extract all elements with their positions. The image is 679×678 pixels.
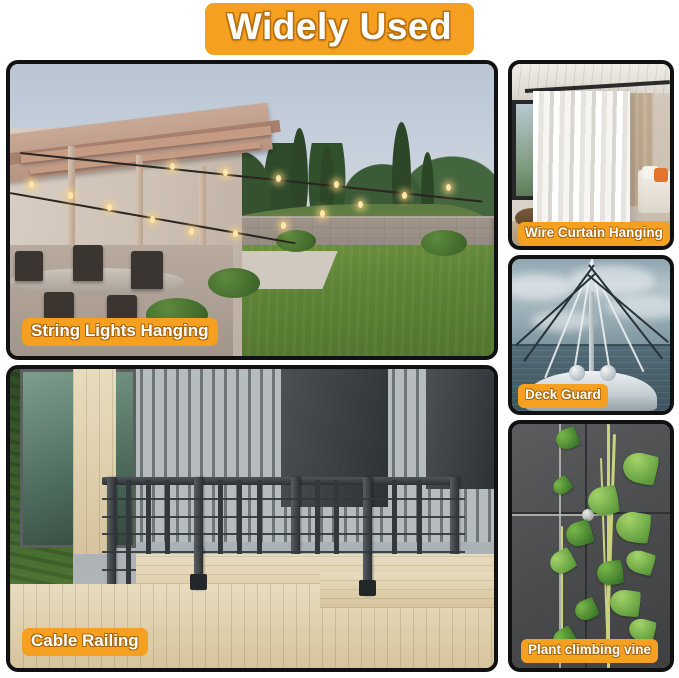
- scene-cable-railing: [10, 369, 494, 668]
- scene-wire-curtain: [512, 64, 670, 246]
- panel-cable-railing[interactable]: Cable Railing: [6, 365, 498, 672]
- railing-cable: [102, 551, 465, 553]
- caption-label: Deck Guard: [525, 387, 601, 402]
- caption-plant-vine: Plant climbing vine: [521, 639, 658, 663]
- caption-deck-guard: Deck Guard: [518, 384, 608, 408]
- scene-backyard: [10, 64, 494, 356]
- accent-pillow: [654, 168, 668, 183]
- railing-cable: [102, 498, 465, 500]
- railing-cable: [102, 516, 465, 518]
- light-bulb: [170, 163, 175, 170]
- light-bulb: [281, 222, 286, 229]
- patio-chair: [73, 245, 103, 281]
- caption-string-lights: String Lights Hanging: [22, 318, 218, 346]
- railing-post-foot: [363, 554, 372, 596]
- light-bulb: [233, 230, 238, 237]
- caption-label: String Lights Hanging: [31, 321, 209, 340]
- panel-wire-curtain[interactable]: Wire Curtain Hanging: [508, 60, 674, 250]
- railing-top-rail: [102, 477, 460, 485]
- light-bulb: [189, 228, 194, 235]
- railing-post-foot: [194, 548, 203, 590]
- wall-seam-vertical: [585, 424, 587, 668]
- scene-climbing-vine: [512, 424, 670, 668]
- title-badge: Widely Used: [205, 3, 474, 55]
- panel-deck-guard[interactable]: Deck Guard: [508, 255, 674, 415]
- infographic-root: Widely Used: [0, 0, 679, 678]
- trellis-wire: [512, 514, 610, 516]
- light-bulb: [107, 204, 112, 211]
- panel-plant-climbing-vine[interactable]: Plant climbing vine: [508, 420, 674, 672]
- light-bulb: [446, 184, 451, 191]
- patio-chair: [44, 292, 74, 318]
- patio-chair: [15, 251, 43, 281]
- forestay-mast: [589, 292, 594, 380]
- light-bulb: [223, 169, 228, 176]
- railing-cable: [102, 533, 465, 535]
- caption-label: Cable Railing: [31, 631, 139, 650]
- caption-cable-railing: Cable Railing: [22, 628, 148, 656]
- caption-wire-curtain: Wire Curtain Hanging: [518, 222, 670, 246]
- dark-wall-panel: [426, 369, 494, 489]
- patio-chair: [131, 251, 163, 289]
- caption-label: Plant climbing vine: [528, 642, 651, 657]
- title-banner: Widely Used: [0, 0, 679, 58]
- caption-label: Wire Curtain Hanging: [525, 225, 663, 240]
- patio-chair: [107, 295, 137, 319]
- page-title: Widely Used: [227, 8, 452, 47]
- light-bulb: [320, 210, 325, 217]
- deck-step-top: [320, 572, 494, 608]
- panel-string-lights[interactable]: String Lights Hanging: [6, 60, 498, 360]
- vine-leaf: [596, 559, 624, 586]
